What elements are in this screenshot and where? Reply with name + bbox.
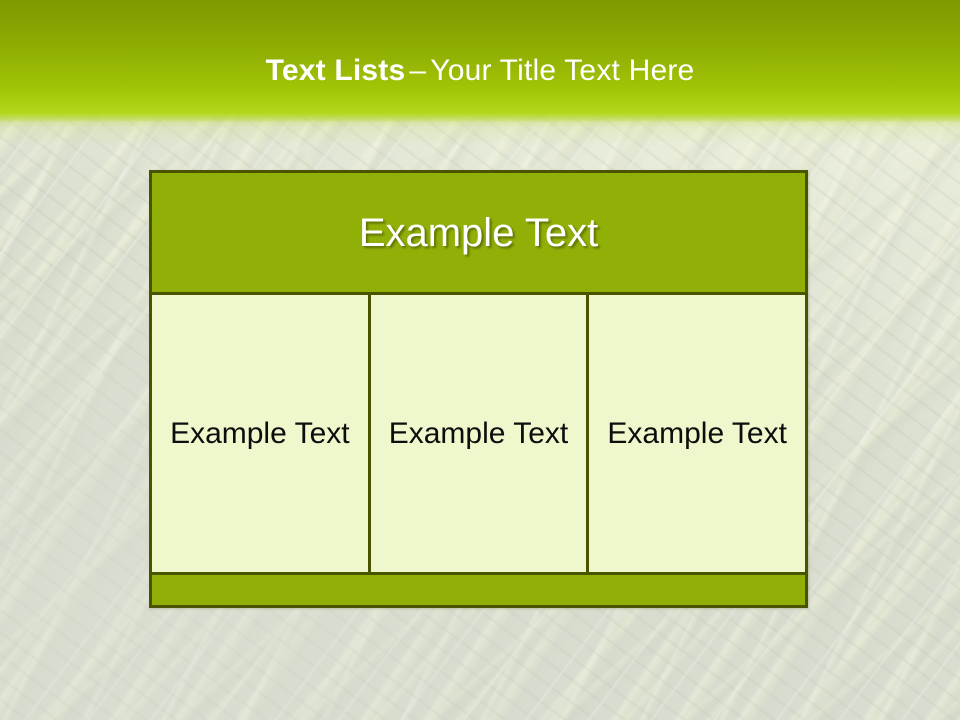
text-list-block[interactable]: Example Text Example Text Example Text E…	[149, 170, 808, 608]
slide-title-separator: –	[405, 54, 430, 87]
text-list-column-2[interactable]: Example Text	[371, 295, 590, 572]
slide-title: Text Lists–Your Title Text Here	[0, 54, 960, 88]
text-list-column-2-label: Example Text	[389, 415, 569, 452]
text-list-header-label: Example Text	[359, 210, 598, 256]
text-list-footer-bar	[152, 572, 805, 605]
text-list-columns: Example Text Example Text Example Text	[152, 295, 805, 572]
text-list-column-1-label: Example Text	[170, 415, 350, 452]
slide-title-rest: Your Title Text Here	[430, 54, 694, 87]
slide-canvas: Text Lists–Your Title Text Here Example …	[0, 0, 960, 720]
text-list-column-1[interactable]: Example Text	[152, 295, 371, 572]
slide-title-strong: Text Lists	[266, 54, 406, 87]
text-list-header[interactable]: Example Text	[152, 173, 805, 295]
text-list-column-3[interactable]: Example Text	[589, 295, 805, 572]
text-list-column-3-label: Example Text	[607, 415, 787, 452]
